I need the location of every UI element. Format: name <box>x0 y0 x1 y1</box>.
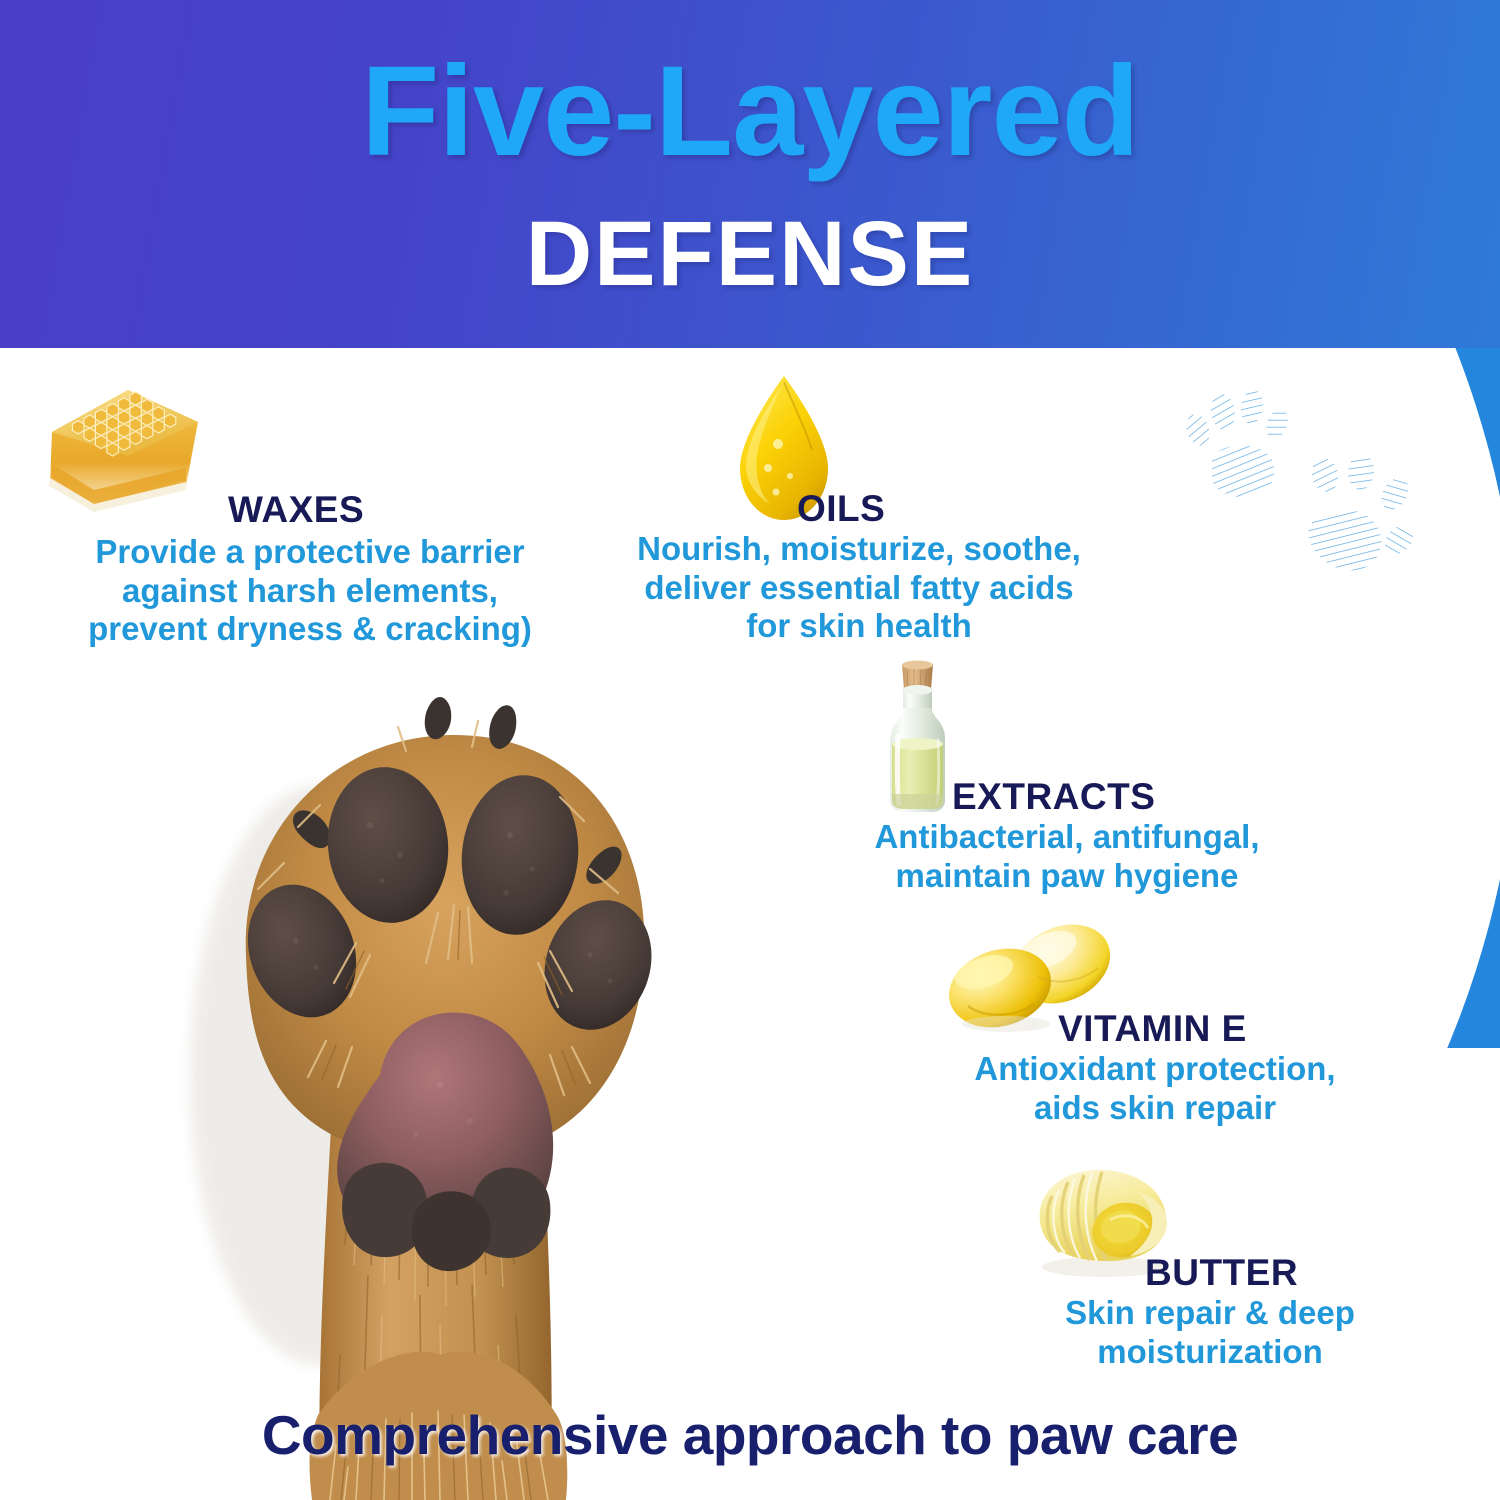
ingredient-description: Nourish, moisturize, soothe, deliver ess… <box>594 530 1124 646</box>
ingredient-description: Provide a protective barrier against har… <box>36 533 584 649</box>
essential-oil-bottle-icon <box>870 660 965 820</box>
footer-tagline: Comprehensive approach to paw care <box>0 1408 1500 1463</box>
honeycomb-icon <box>36 378 211 523</box>
infographic-canvas: Five-Layered DEFENSE <box>0 0 1500 1500</box>
ingredient-title: WAXES <box>228 491 364 528</box>
header-banner: Five-Layered DEFENSE <box>0 0 1500 350</box>
ingredient-title: OILS <box>797 490 885 527</box>
dog-paw-photo <box>120 655 740 1500</box>
paw-print-icon <box>1178 384 1298 519</box>
page-title: Five-Layered <box>0 48 1500 176</box>
ingredient-title: EXTRACTS <box>952 778 1155 815</box>
ingredient-title: BUTTER <box>1145 1254 1298 1291</box>
ingredient-title: VITAMIN E <box>1058 1010 1247 1047</box>
page-subtitle: DEFENSE <box>0 208 1500 300</box>
ingredient-description: Skin repair & deep moisturization <box>1000 1294 1420 1371</box>
ingredient-description: Antibacterial, antifungal, maintain paw … <box>828 818 1306 895</box>
paw-print-icon <box>1295 440 1430 590</box>
ingredient-description: Antioxidant protection, aids skin repair <box>930 1050 1380 1127</box>
